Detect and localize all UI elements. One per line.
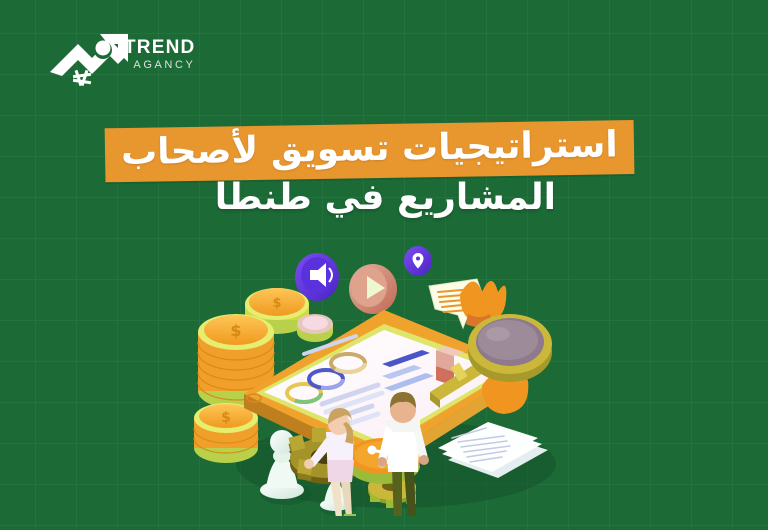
logo-subtitle: AGANCY	[124, 60, 195, 71]
isometric-scene-svg: $	[186, 246, 586, 516]
svg-text:$: $	[272, 296, 281, 311]
location-pin-bubble-icon	[404, 246, 432, 276]
headline-banner: استراتيجيات تسويق لأصحاب	[105, 120, 635, 183]
logo-wordmark: TREND AGANCY	[124, 38, 195, 71]
brand-logo[interactable]: TREND AGANCY	[48, 22, 198, 88]
poster-canvas: TREND AGANCY استراتيجيات تسويق لأصحاب ال…	[0, 0, 768, 530]
hero-illustration: $	[186, 246, 586, 516]
headline-block: استراتيجيات تسويق لأصحاب المشاريع في طنط…	[0, 112, 768, 222]
svg-text:$: $	[230, 321, 241, 340]
headline-line-1: استراتيجيات تسويق لأصحاب	[121, 125, 618, 173]
headline-banner-fill: استراتيجيات تسويق لأصحاب	[105, 120, 635, 183]
headline-line-2: المشاريع في طنطا	[215, 178, 556, 218]
svg-text:$: $	[221, 410, 231, 426]
logo-title: TREND	[124, 38, 195, 57]
play-bubble-icon	[349, 264, 397, 314]
coin-stack-side: $	[194, 403, 258, 463]
coin-pink	[297, 314, 333, 342]
